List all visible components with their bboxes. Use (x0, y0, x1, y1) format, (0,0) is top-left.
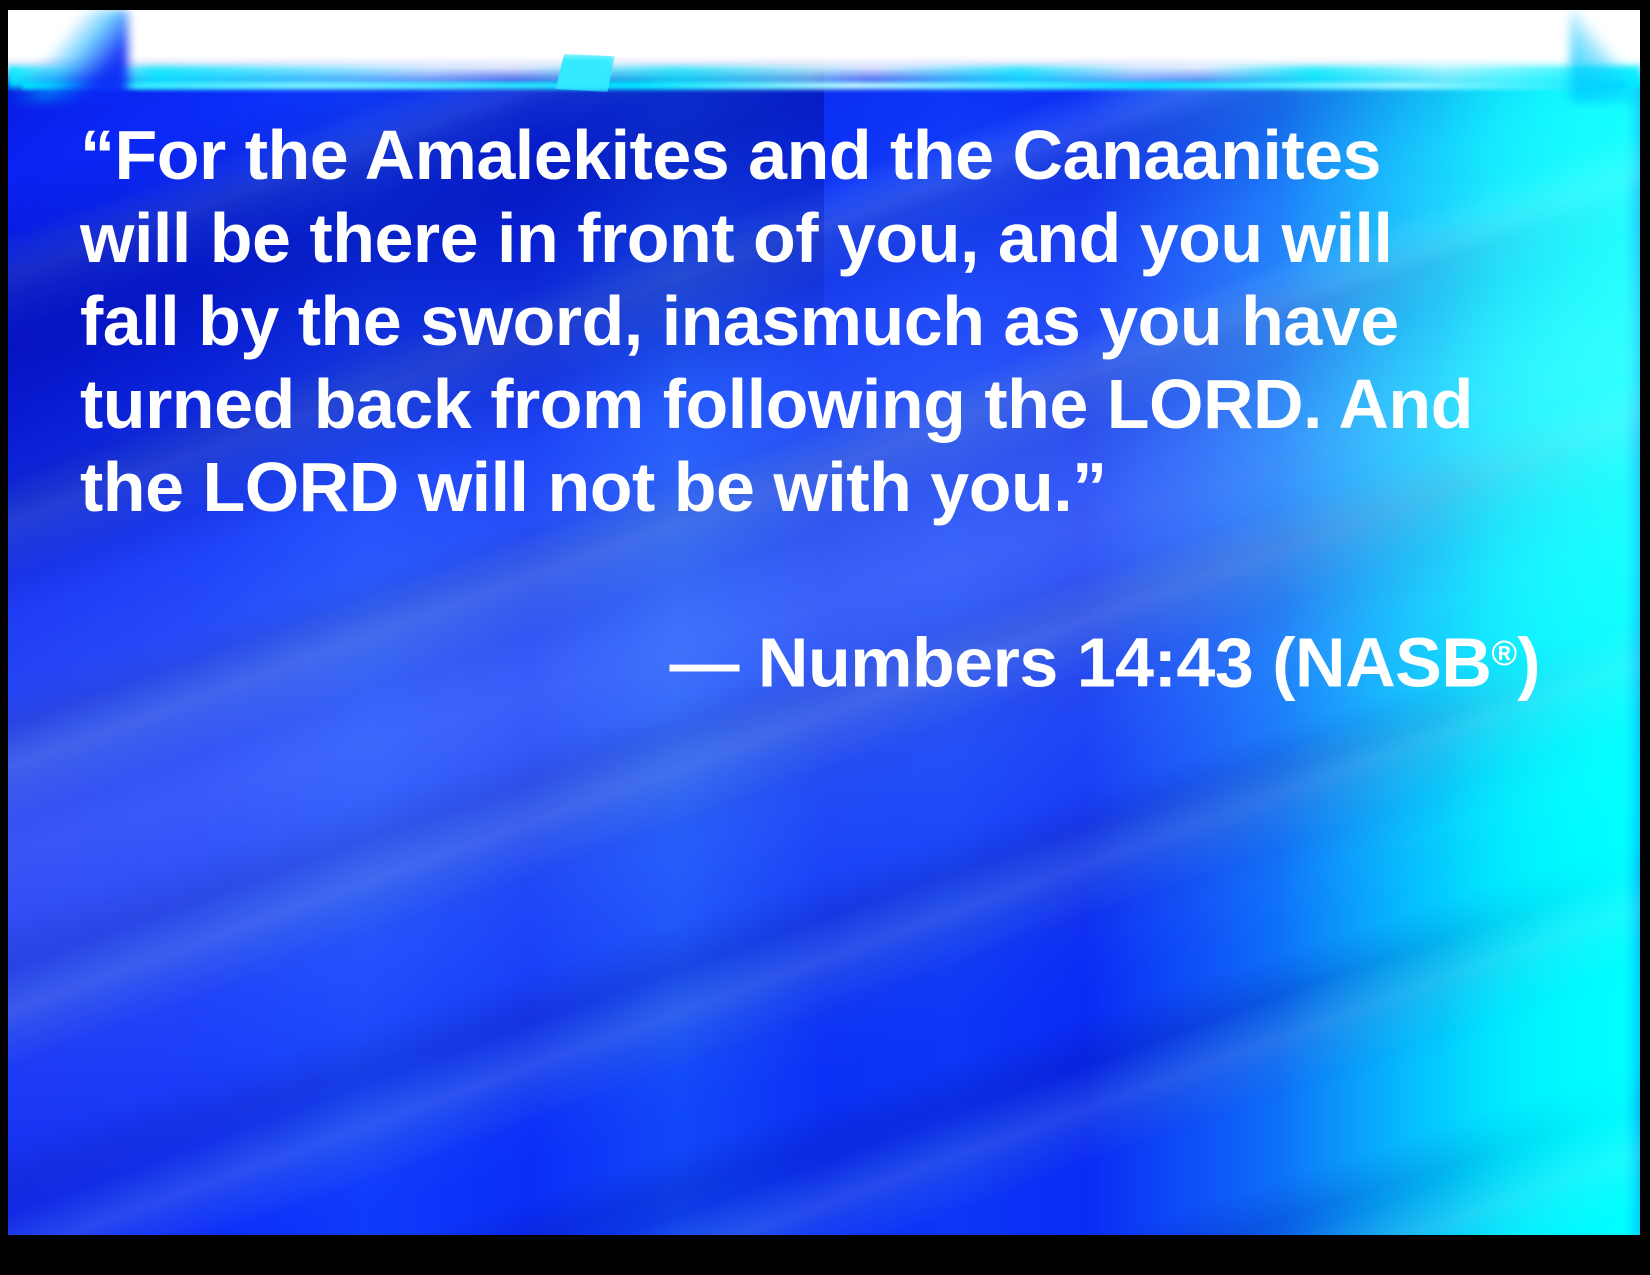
verse-line: fall by the sword, inasmuch as you have (80, 280, 1540, 363)
verse-line: the LORD will not be with you.” (80, 446, 1540, 529)
verse-line: will be there in front of you, and you w… (80, 197, 1540, 280)
verse-line: turned back from following the LORD. And (80, 363, 1540, 446)
verse-slide: “For the Amalekites and the Canaanites w… (0, 0, 1650, 1275)
verse-text-block: “For the Amalekites and the Canaanites w… (80, 114, 1540, 529)
slide-panel: “For the Amalekites and the Canaanites w… (8, 10, 1640, 1235)
verse-line: “For the Amalekites and the Canaanites (80, 114, 1540, 197)
